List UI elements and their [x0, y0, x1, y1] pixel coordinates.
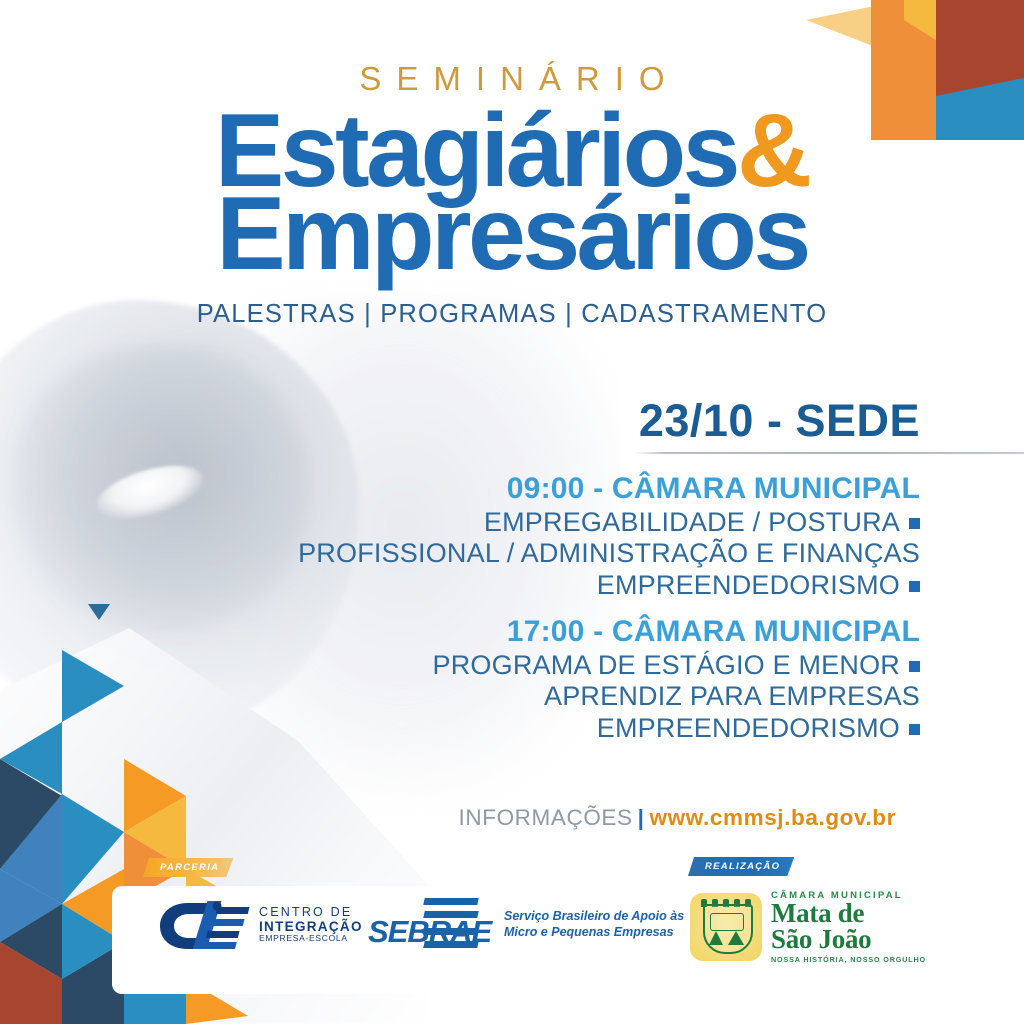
info-separator: |	[638, 805, 645, 830]
session-topic-1700-0: PROGRAMA DE ESTÁGIO E MENOR	[433, 650, 920, 682]
sebrae-tagline: Serviço Brasileiro de Apoio às Micro e P…	[504, 909, 684, 940]
eyebrow-seminario: SEMINÁRIO	[0, 62, 1024, 95]
camara-wordmark-text: CÂMARA MUNICIPAL Mata de São João NOSSA …	[771, 890, 926, 964]
seal-palm-icon	[709, 931, 723, 945]
session-time-1700: 17:00	[507, 615, 585, 648]
ciee-line-2: INTEGRAÇÃO	[259, 920, 363, 935]
bullet-square-icon	[909, 724, 920, 735]
ciee-logo-svg	[158, 897, 254, 953]
ciee-line-3: EMPRESA-ESCOLA	[259, 934, 363, 943]
sebrae-tagline-2: Micro e Pequenas Empresas	[504, 925, 684, 941]
seal-hut-icon	[728, 931, 744, 945]
tag-parceria: PARCERIA	[143, 858, 233, 877]
session-block-0900: 09:00 - CÂMARA MUNICIPAL EMPREGABILIDADE…	[298, 472, 920, 601]
sebrae-bars-icon	[424, 898, 478, 952]
session-topic-0900-0: EMPREGABILIDADE / POSTURA	[298, 507, 920, 539]
main-title: Estagiários& Empresários	[0, 107, 1024, 280]
ciee-line-1: CENTRO DE	[259, 906, 363, 920]
headline-block: SEMINÁRIO Estagiários& Empresários PALES…	[0, 62, 1024, 329]
session-time-venue-1700: 17:00 - CÂMARA MUNICIPAL	[433, 615, 920, 650]
session-venue-0900: CÂMARA MUNICIPAL	[612, 472, 920, 505]
camara-line-2b: São João	[771, 927, 926, 953]
subtitle-topics: PALESTRAS | PROGRAMAS | CADASTRAMENTO	[0, 300, 1024, 329]
session-separator-1700: -	[593, 615, 603, 648]
sebrae-tagline-1: Serviço Brasileiro de Apoio às	[504, 909, 684, 925]
logo-camara-mata-de-sao-joao: CÂMARA MUNICIPAL Mata de São João NOSSA …	[690, 890, 926, 964]
date-heading-divider	[634, 452, 1024, 454]
session-venue-1700: CÂMARA MUNICIPAL	[612, 615, 920, 648]
session-time-venue-0900: 09:00 - CÂMARA MUNICIPAL	[298, 472, 920, 507]
info-website-link[interactable]: www.cmmsj.ba.gov.br	[650, 805, 896, 830]
bullet-square-icon	[909, 661, 920, 672]
seal-inner-band-icon	[710, 913, 744, 931]
bullet-square-icon	[909, 518, 920, 529]
session-topic-1700-2: EMPREENDEDORISMO	[433, 713, 920, 745]
camara-line-3: NOSSA HISTÓRIA, NOSSO ORGULHO	[771, 955, 926, 964]
info-label: INFORMAÇÕES	[459, 805, 633, 830]
logo-sebrae: SEBRAE Serviço Brasileiro de Apoio às Mi…	[368, 898, 684, 952]
bullet-square-icon	[909, 581, 920, 592]
session-time-0900: 09:00	[507, 472, 585, 505]
ciee-wordmark-text: CENTRO DE INTEGRAÇÃO EMPRESA-ESCOLA	[259, 906, 363, 943]
logo-ciee: CENTRO DE INTEGRAÇÃO EMPRESA-ESCOLA	[158, 897, 363, 953]
tag-realizacao: REALIZAÇÃO	[688, 857, 794, 876]
coat-of-arms-icon	[690, 893, 762, 961]
date-heading: 23/10 - SEDE	[639, 398, 920, 443]
session-block-1700: 17:00 - CÂMARA MUNICIPAL PROGRAMA DE EST…	[433, 615, 920, 744]
ciee-mark-icon	[158, 897, 254, 953]
poster-canvas: SEMINÁRIO Estagiários& Empresários PALES…	[0, 0, 1024, 1024]
title-line-empresarios: Empresários	[0, 190, 1024, 279]
session-separator-0900: -	[593, 472, 603, 505]
session-topic-0900-2: EMPREENDEDORISMO	[298, 570, 920, 602]
session-topic-0900-1: PROFISSIONAL / ADMINISTRAÇÃO E FINANÇAS	[298, 538, 920, 570]
camara-line-2a: Mata de	[771, 901, 926, 927]
session-topic-1700-1: APRENDIZ PARA EMPRESAS	[433, 681, 920, 713]
sebrae-mark-icon: SEBRAE	[368, 898, 496, 952]
information-line: INFORMAÇÕES|www.cmmsj.ba.gov.br	[459, 805, 896, 831]
